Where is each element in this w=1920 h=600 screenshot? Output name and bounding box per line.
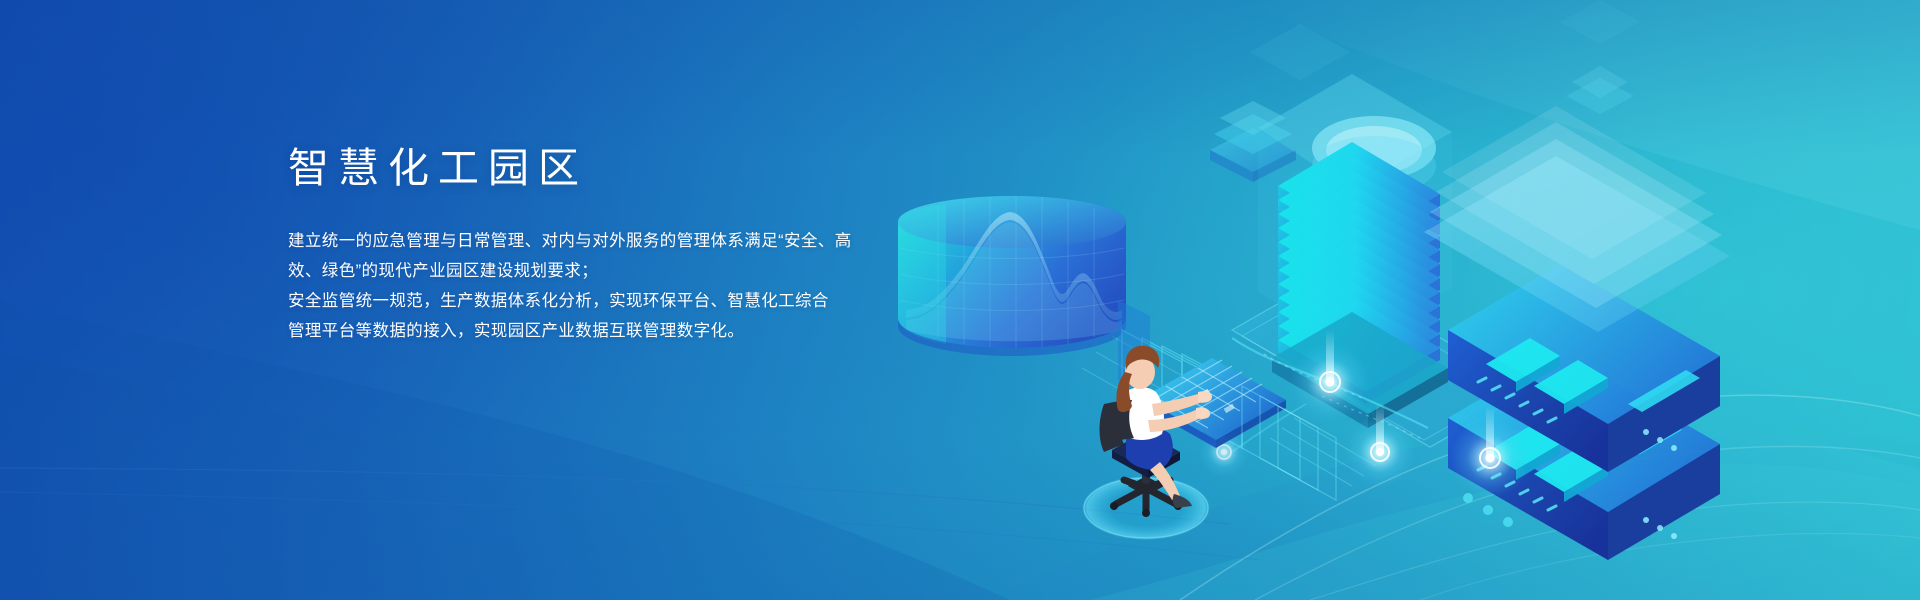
hero-banner: 智慧化工园区 建立统一的应急管理与日常管理、对内与对外服务的管理体系满足“安全、…: [0, 0, 1920, 600]
floating-plate-small: [1566, 66, 1634, 114]
floating-plate-edge: [1250, 0, 1640, 80]
person-at-holographic-keyboard: [1082, 346, 1286, 540]
banner-copy: 智慧化工园区 建立统一的应急管理与日常管理、对内与对外服务的管理体系满足“安全、…: [288, 144, 928, 346]
description-line-2: 效、绿色”的现代产业园区建设规划要求；: [288, 256, 928, 286]
banner-description: 建立统一的应急管理与日常管理、对内与对外服务的管理体系满足“安全、高 效、绿色”…: [288, 226, 928, 346]
page-title: 智慧化工园区: [288, 144, 928, 192]
data-dome-chart: [898, 196, 1126, 356]
rack-glass-hood: [1424, 106, 1730, 332]
description-line-3: 安全监管统一规范，生产数据体系化分析，实现环保平台、智慧化工综合: [288, 286, 928, 316]
description-line-4: 管理平台等数据的接入，实现园区产业数据互联管理数字化。: [288, 316, 928, 346]
description-line-1: 建立统一的应急管理与日常管理、对内与对外服务的管理体系满足“安全、高: [288, 226, 928, 256]
